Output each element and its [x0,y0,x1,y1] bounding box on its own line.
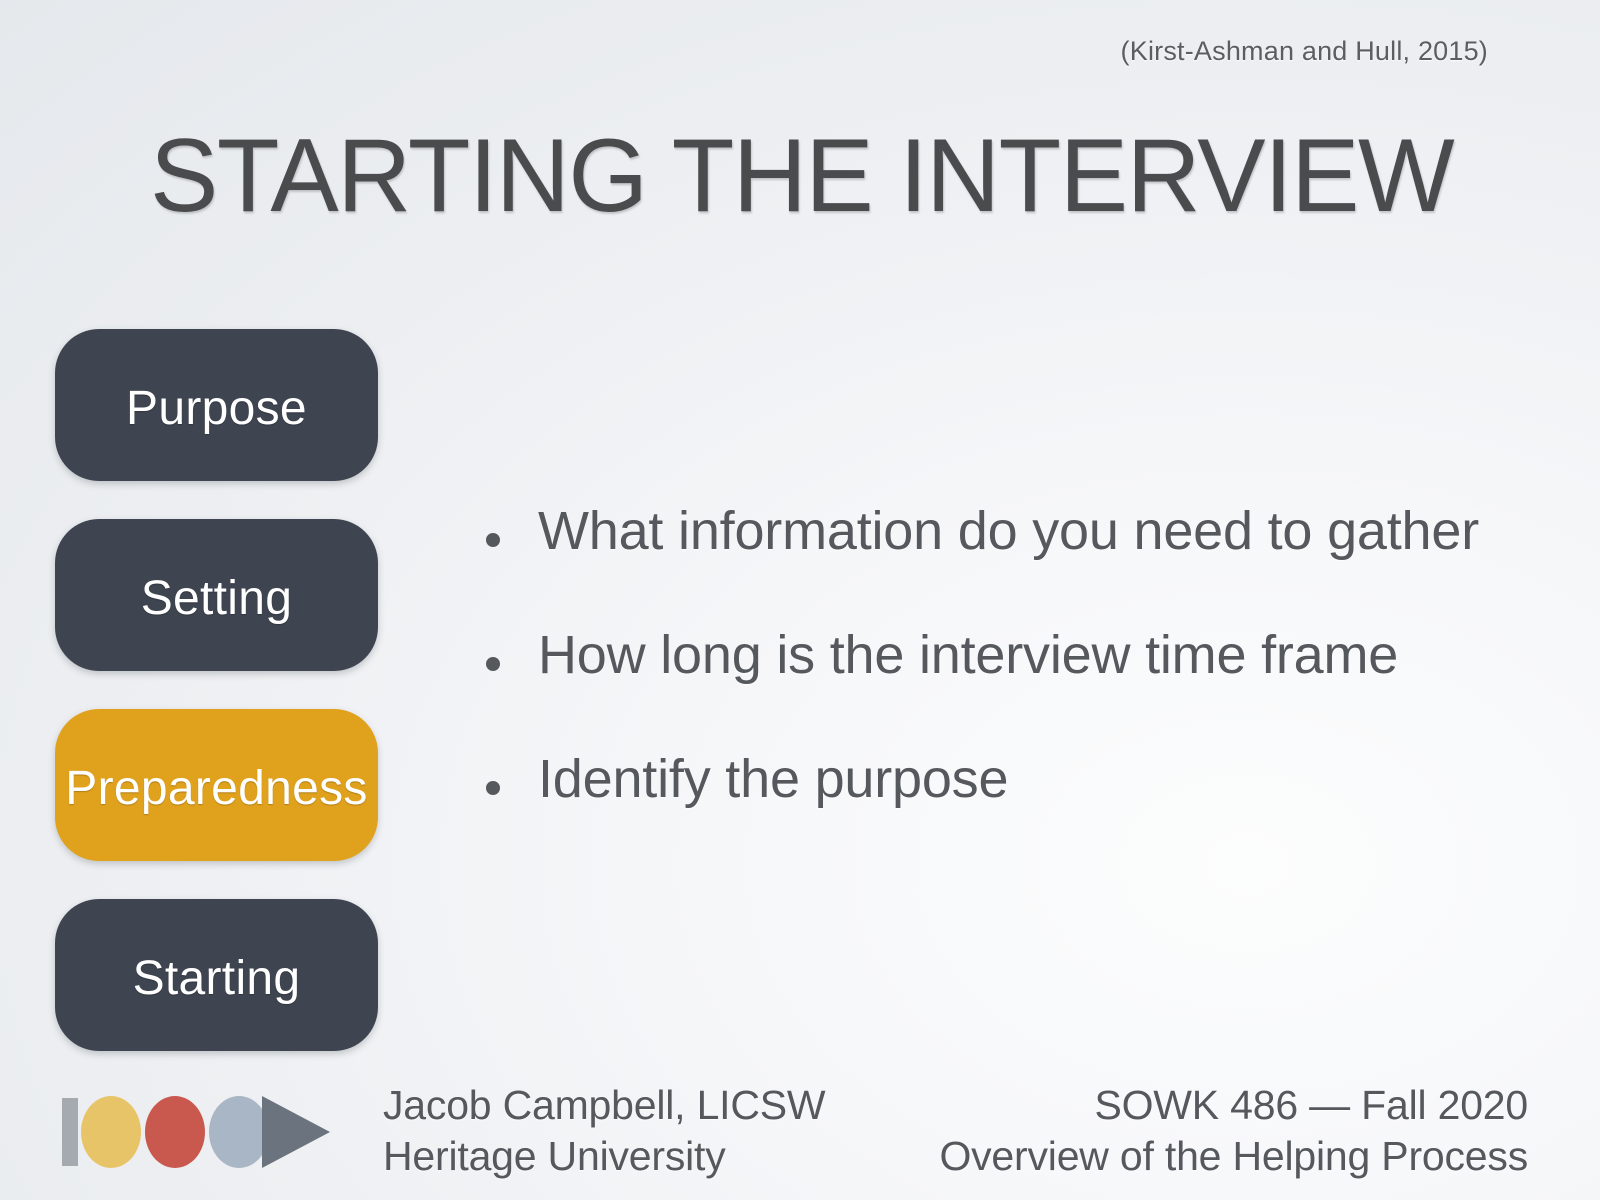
list-item: Identify the purpose [478,748,1538,872]
step-label: Setting [141,571,293,626]
page-title: STARTING THE INTERVIEW [150,120,1421,230]
slide-canvas: (Kirst-Ashman and Hull, 2015) STARTING T… [0,0,1600,1200]
bullet-list: What information do you need to gather H… [478,500,1538,872]
list-item: What information do you need to gather [478,500,1538,624]
presenter-name: Jacob Campbell, LICSW [383,1080,825,1131]
presenter-organization: Heritage University [383,1131,825,1182]
logo-triangle-icon [262,1096,330,1168]
step-label: Preparedness [65,761,367,816]
step-item-preparedness[interactable]: Preparedness [55,709,378,861]
course-label: SOWK 486 — Fall 2020 [939,1080,1528,1131]
course-topic: Overview of the Helping Process [939,1131,1528,1182]
step-item-setting[interactable]: Setting [55,519,378,671]
citation-text: (Kirst-Ashman and Hull, 2015) [1121,36,1488,67]
bullet-text: Identify the purpose [538,748,1008,810]
bullet-dot-icon [486,781,500,795]
footer-presenter: Jacob Campbell, LICSW Heritage Universit… [383,1080,825,1182]
step-label: Starting [133,951,301,1006]
bullet-dot-icon [486,657,500,671]
process-step-list: Purpose Setting Preparedness Starting [55,329,378,1051]
bullet-text: What information do you need to gather [538,500,1479,562]
logo-circle-red-icon [145,1096,205,1168]
step-item-purpose[interactable]: Purpose [55,329,378,481]
bullet-text: How long is the interview time frame [538,624,1398,686]
list-item: How long is the interview time frame [478,624,1538,748]
logo-circle-gold-icon [81,1096,141,1168]
footer-course: SOWK 486 — Fall 2020 Overview of the Hel… [939,1080,1528,1182]
logo-bar-icon [62,1098,78,1166]
heritage-university-logo [62,1090,362,1174]
bullet-dot-icon [486,533,500,547]
logo-circle-blue-icon [209,1096,269,1168]
step-label: Purpose [126,381,307,436]
step-item-starting[interactable]: Starting [55,899,378,1051]
